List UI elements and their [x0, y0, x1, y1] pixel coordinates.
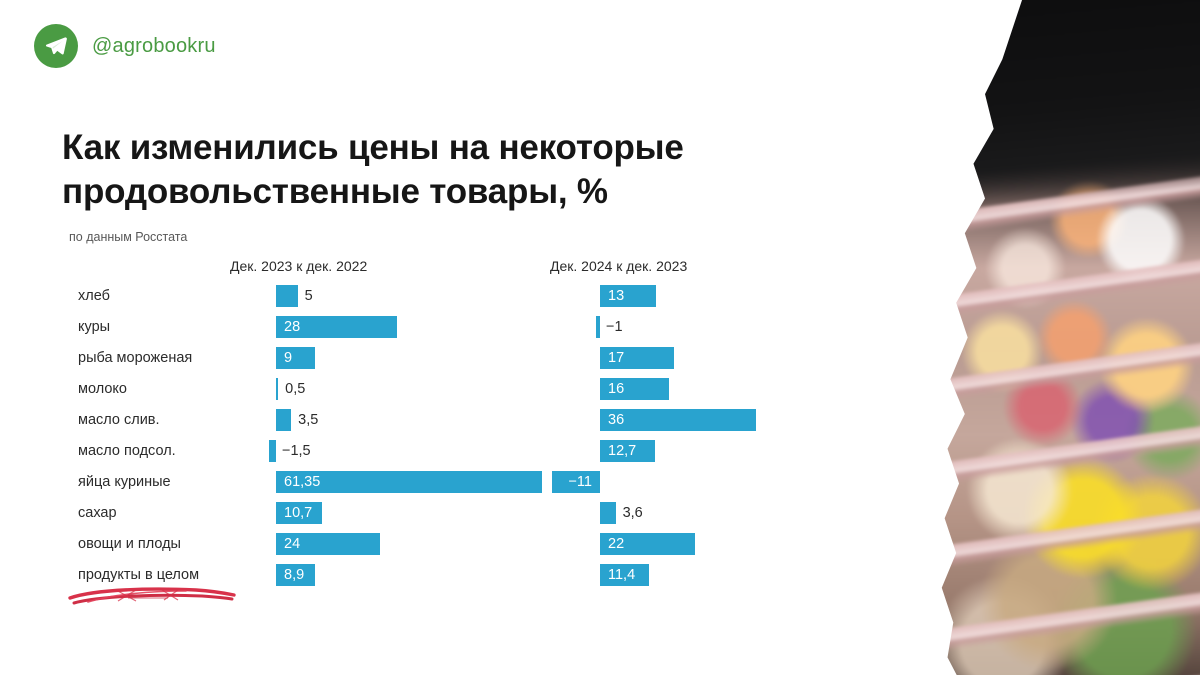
- bar-value-label: 3,6: [623, 502, 643, 524]
- bar-value-label: 11,4: [608, 564, 635, 586]
- row-label: масло слив.: [78, 409, 268, 431]
- bar: 12,7: [600, 440, 655, 462]
- bar: −11: [552, 471, 600, 493]
- bar-value-label: 9: [284, 347, 292, 369]
- bar-value-label: 28: [284, 316, 300, 338]
- bar: 9: [276, 347, 315, 369]
- supermarket-shelves-photo: [920, 0, 1200, 675]
- bar-value-label: 13: [608, 285, 624, 307]
- bar-value-label: 61,35: [284, 471, 320, 493]
- row-label: овощи и плоды: [78, 533, 268, 555]
- bar-chart: Дек. 2023 к дек. 2022 Дек. 2024 к дек. 2…: [0, 0, 940, 675]
- bar-value-label: 3,5: [298, 409, 318, 431]
- row-label: куры: [78, 316, 268, 338]
- bar-value-label: 12,7: [608, 440, 636, 462]
- bar-value-label: 22: [608, 533, 624, 555]
- row-label: хлеб: [78, 285, 268, 307]
- bar-value-label: 0,5: [285, 378, 305, 400]
- row-label: яйца куриные: [78, 471, 268, 493]
- bar: 16: [600, 378, 669, 400]
- bar-value-label: 16: [608, 378, 624, 400]
- row-label: сахар: [78, 502, 268, 524]
- bar: 24: [276, 533, 380, 555]
- bar-value-label: 10,7: [284, 502, 312, 524]
- bar: 28: [276, 316, 397, 338]
- bar: 22: [600, 533, 695, 555]
- bar: [600, 502, 616, 524]
- bar-value-label: −1: [606, 316, 623, 338]
- bar: [276, 378, 278, 400]
- bar: [596, 316, 600, 338]
- slide-canvas: @agrobookru Как изменились цены на некот…: [0, 0, 1200, 675]
- row-label: продукты в целом: [78, 564, 268, 586]
- row-label: масло подсол.: [78, 440, 268, 462]
- bar: 10,7: [276, 502, 322, 524]
- bar-value-label: 5: [305, 285, 313, 307]
- bar-value-label: −11: [568, 471, 592, 493]
- photo-image: [920, 0, 1200, 675]
- row-label: рыба мороженая: [78, 347, 268, 369]
- column-header-right: Дек. 2024 к дек. 2023: [550, 258, 687, 274]
- bar: [276, 285, 298, 307]
- bar: [276, 409, 291, 431]
- bar-value-label: 17: [608, 347, 624, 369]
- bar: 36: [600, 409, 756, 431]
- column-header-left: Дек. 2023 к дек. 2022: [230, 258, 367, 274]
- bar: 11,4: [600, 564, 649, 586]
- bar-value-label: 36: [608, 409, 624, 431]
- bar: 61,35: [276, 471, 542, 493]
- bar-value-label: 24: [284, 533, 300, 555]
- bar: 17: [600, 347, 674, 369]
- bar: 8,9: [276, 564, 315, 586]
- bar-value-label: −1,5: [282, 440, 311, 462]
- row-label: молоко: [78, 378, 268, 400]
- bar-value-label: 8,9: [284, 564, 304, 586]
- bar: 13: [600, 285, 656, 307]
- bar: [269, 440, 276, 462]
